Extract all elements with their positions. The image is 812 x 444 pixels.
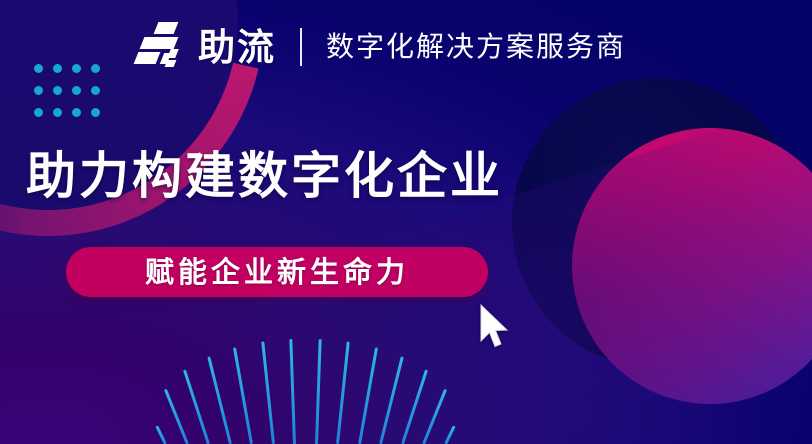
- fan-line: [163, 389, 188, 444]
- fan-line: [422, 389, 447, 444]
- fan-line: [358, 347, 378, 444]
- fan-line: [379, 356, 404, 444]
- fan-line: [401, 369, 428, 444]
- fan-lines-decoration: [150, 340, 470, 444]
- cta-pill-button[interactable]: 赋能企业新生命力: [66, 247, 488, 297]
- fan-line: [183, 369, 210, 444]
- grid-dot: [34, 86, 43, 95]
- grid-dot: [53, 86, 62, 95]
- fan-line: [336, 341, 350, 444]
- grid-dot: [91, 86, 100, 95]
- grid-dot: [91, 108, 100, 117]
- dot-grid-decoration: [34, 64, 110, 130]
- banner-header: 助流 数字化解决方案服务商: [136, 22, 626, 72]
- promo-banner: 助流 数字化解决方案服务商 助力构建数字化企业 赋能企业新生命力: [0, 0, 812, 444]
- page-title: 助力构建数字化企业: [26, 148, 503, 204]
- grid-dot: [53, 108, 62, 117]
- fan-line: [289, 339, 296, 444]
- logo-wordmark: 助流: [198, 29, 276, 66]
- mouse-pointer-icon: [478, 303, 512, 349]
- fan-line: [233, 347, 253, 444]
- grid-dot: [34, 64, 43, 73]
- grid-dot: [72, 64, 81, 73]
- header-divider: [300, 28, 302, 66]
- fan-line: [444, 425, 456, 444]
- zhuliu-lightning-logo-icon: [136, 22, 184, 72]
- grid-dot: [34, 108, 43, 117]
- fan-line: [207, 356, 232, 444]
- fan-line: [315, 339, 322, 444]
- grid-dot: [72, 108, 81, 117]
- grid-dot: [72, 86, 81, 95]
- header-tagline: 数字化解决方案服务商: [326, 33, 626, 61]
- fan-line: [261, 341, 275, 444]
- grid-dot: [53, 64, 62, 73]
- fan-line: [155, 425, 167, 444]
- cta-pill-label: 赋能企业新生命力: [145, 258, 409, 287]
- grid-dot: [91, 64, 100, 73]
